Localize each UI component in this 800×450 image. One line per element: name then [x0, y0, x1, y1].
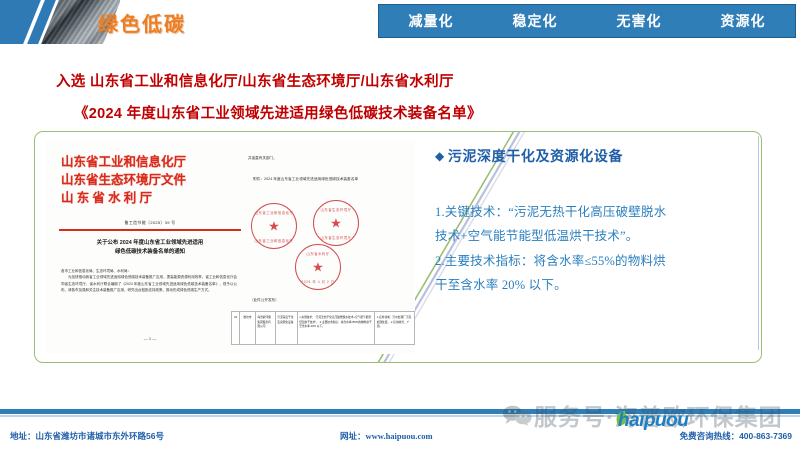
technology-info-panel: ◆ 污泥深度干化及资源化设备 1.关键技术：“污泥无热干化高压破壁脱水 技术+空…	[435, 146, 753, 352]
page-header: 绿色低碳 减量化 稳定化 无害化 资源化	[0, 0, 800, 46]
seal-c-star: ★	[312, 261, 324, 274]
footer-bar-primary	[0, 409, 800, 414]
agency-line-3: 山东省水利厅	[61, 190, 241, 208]
info-panel-right-rule	[758, 136, 759, 350]
table-cell-company: 海普欧环保集团股份有限公司	[256, 312, 276, 345]
award-title-line-2: 《2024 年度山东省工业领域先进适用绿色低碳技术装备名单》	[0, 102, 800, 123]
info-panel-body: 1.关键技术：“污泥无热干化高压破壁脱水 技术+空气能节能型低温烘干技术”。 2…	[435, 200, 753, 298]
document-title-line-2: 绿色低碳技术装备名单的通知	[59, 248, 241, 257]
seal-b-star: ★	[330, 217, 342, 230]
nav-item-wuhai[interactable]: 无害化	[617, 11, 662, 31]
document-page-number: — 1 —	[59, 336, 241, 341]
document-red-rule	[59, 229, 241, 231]
scanned-document-image: 山东省工业和信息化厅 山东省生态环境厅文件 山东省水利厅 鲁工信节能〔2025〕…	[45, 140, 415, 354]
document-issue-note: （此件公开发布）	[250, 298, 279, 303]
info-line-2: 技术+空气能节能型低温烘干技术”。	[435, 224, 753, 248]
award-title-block: 入选 山东省工业和信息化厅/山东省生态环境厅/山东省水利厅 《2024 年度山东…	[0, 70, 800, 123]
nav-item-jianliang[interactable]: 减量化	[409, 11, 454, 31]
seal-b-top-text: 山东省生态环境厅	[314, 207, 358, 212]
info-line-1: 1.关键技术：“污泥无热干化高压破壁脱水	[435, 200, 753, 224]
document-red-header: 山东省工业和信息化厅 山东省生态环境厅文件 山东省水利厅	[61, 154, 241, 207]
award-title-line-1: 入选 山东省工业和信息化厅/山东省生态环境厅/山东省水利厅	[0, 70, 800, 91]
document-attachment-label: 附件：2024 年度山东省工业领域先进适用绿色低碳技术装备名单	[253, 176, 383, 183]
official-seal-industry: 山东省工业和信息化厅 ★ 山东省工业和信息化厅	[251, 203, 297, 249]
nav-item-ziyuan[interactable]: 资源化	[721, 11, 766, 31]
info-panel-heading: ◆ 污泥深度干化及资源化设备	[435, 146, 753, 166]
seal-a-top-text: 山东省工业和信息化厅	[252, 210, 296, 215]
footer-website[interactable]: 网址：www.haipuou.com	[340, 430, 433, 442]
table-cell-tech-desc: 1.关键技术：“污泥无热干化高压破壁脱水技术+空气能节能型低温烘干技术”。 2.…	[298, 312, 376, 345]
content-card: 山东省工业和信息化厅 山东省生态环境厅文件 山东省水利厅 鲁工信节能〔2025〕…	[34, 131, 762, 363]
document-title: 关于公布 2024 年度山东省工业领域先进适用 绿色低碳技术装备名单的通知	[59, 239, 241, 258]
table-cell-tech-name: 污泥深度干化及资源化设备	[276, 312, 298, 345]
info-line-3: 2.主要技术指标：将含水率≤55%的物料烘	[435, 249, 753, 273]
top-navbar: 减量化 稳定化 无害化 资源化	[378, 4, 796, 38]
agency-line-1: 山东省工业和信息化厅	[61, 154, 241, 172]
table-cell-effect: 1.应用领域：污水处理厂污泥处理处置。 2.应用前景：广阔。	[375, 312, 415, 345]
info-line-4: 干至含水率 20% 以下。	[435, 273, 753, 297]
info-panel-heading-text: 污泥深度干化及资源化设备	[448, 146, 623, 166]
footer-contact-bar: 地址：山东省潍坊市诸城市东外环路56号 网址：www.haipuou.com 免…	[0, 428, 800, 448]
footer-bar-secondary	[0, 415, 800, 417]
document-cc-note: 并省直有关部门。	[248, 156, 277, 161]
footer-hotline: 免费咨询热线：400-863-7369	[680, 430, 792, 442]
nav-item-wending[interactable]: 稳定化	[513, 11, 558, 31]
table-cell-area: 潍坊市	[240, 312, 256, 345]
seal-b-bottom-text: 山东省生态环境厅	[314, 235, 358, 240]
brand-title: 绿色低碳	[98, 8, 186, 37]
document-title-line-1: 关于公布 2024 年度山东省工业领域先进适用	[59, 239, 241, 248]
seal-a-star: ★	[268, 220, 280, 233]
document-paragraph: 为加快推动我省工业领域先进适用绿色低碳技术装备推广应用，提高能源资源利用效率，省…	[61, 274, 237, 293]
document-number: 鲁工信节能〔2025〕39 号	[75, 220, 225, 226]
seal-c-top-text: 山东省水利厅	[296, 251, 340, 256]
official-seal-water: 山东省水利厅 ★ 2025 年 4 月 2 日	[295, 244, 341, 290]
official-seal-environment: 山东省生态环境厅 ★ 山东省生态环境厅	[313, 200, 359, 246]
footer-divider-bars	[0, 406, 800, 420]
table-cell-no: 34	[232, 312, 240, 345]
seal-a-bottom-text: 山东省工业和信息化厅	[252, 238, 296, 243]
agency-line-2: 山东省生态环境厅文件	[61, 172, 241, 190]
footer-address: 地址：山东省潍坊市诸城市东外环路56号	[10, 430, 164, 442]
diamond-bullet-icon: ◆	[435, 149, 445, 164]
document-body: 各市工业和信息化局、生态环境局、水利局： 为加快推动我省工业领域先进适用绿色低碳…	[61, 268, 237, 294]
seal-c-date-text: 2025 年 4 月 2 日	[296, 279, 340, 284]
document-table-row: 34 潍坊市 海普欧环保集团股份有限公司 污泥深度干化及资源化设备 1.关键技术…	[231, 311, 415, 345]
